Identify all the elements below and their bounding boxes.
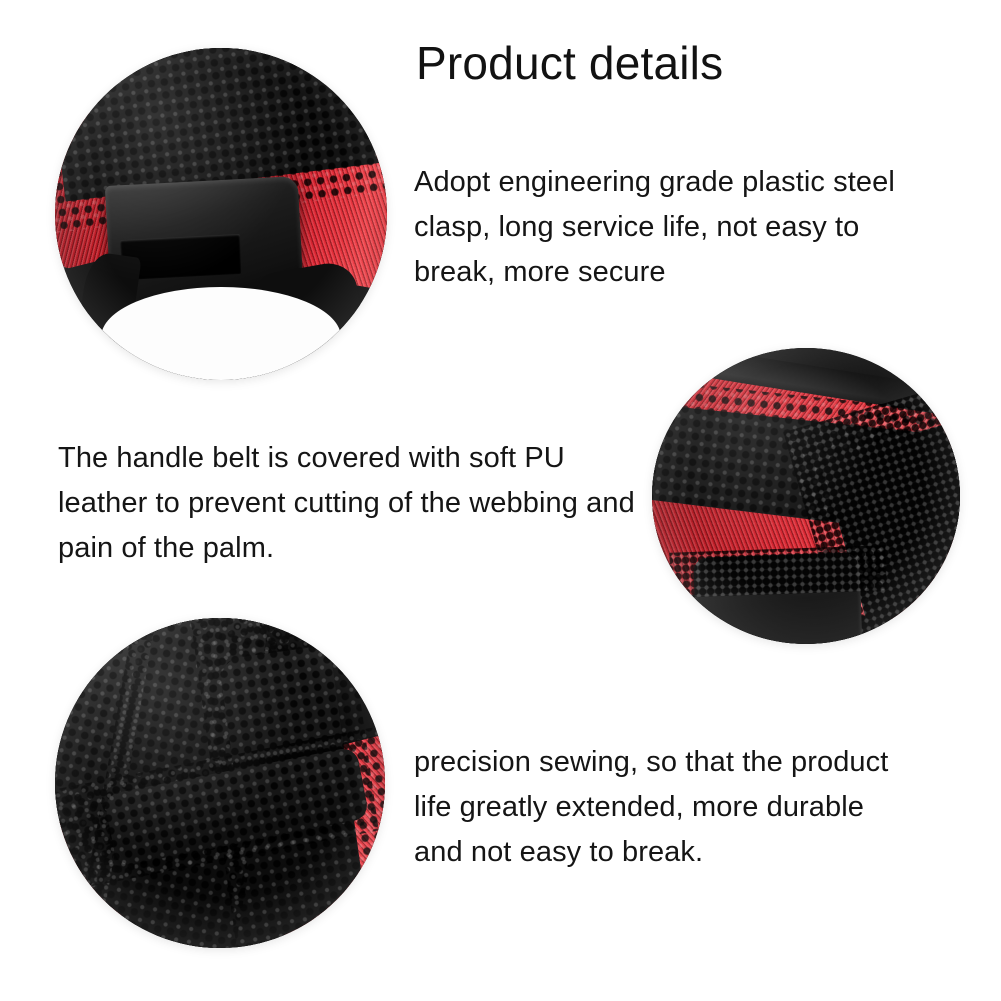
mesh-texture [670,545,887,598]
handle-strap-mesh-edge [701,553,856,591]
feature-text-sewing: precision sewing, so that the product li… [414,740,904,875]
product-photo-clasp [55,48,387,380]
product-details-page: Product details Adopt engineering grade … [0,0,1001,1001]
feature-text-handle: The handle belt is covered with soft PU … [58,436,638,571]
black-mesh-panel [55,48,387,201]
page-title: Product details [416,38,723,89]
feature-text-clasp: Adopt engineering grade plastic steel cl… [414,160,934,295]
product-photo-handle [652,348,960,644]
photo-backdrop-highlight [101,287,340,380]
product-photo-sewing [55,618,385,948]
